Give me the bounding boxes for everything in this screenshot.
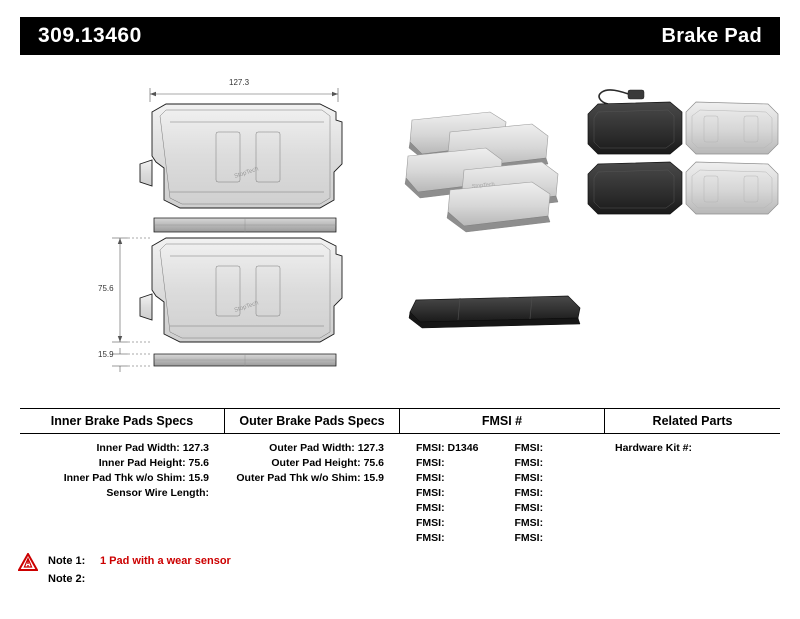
- inner-pad-height: Inner Pad Height: 75.6: [20, 456, 225, 471]
- note-1-label: Note 1:: [48, 552, 100, 570]
- warning-icon: [18, 553, 38, 571]
- dimension-height-label: 75.6: [98, 284, 114, 293]
- dimension-width-label: 127.3: [229, 78, 249, 87]
- outer-pad-width: Outer Pad Width: 127.3: [225, 441, 400, 456]
- inner-pad-width: Inner Pad Width: 127.3: [20, 441, 225, 456]
- fmsi-entry: FMSI:: [507, 501, 606, 516]
- specifications-table: Inner Brake Pads Specs Outer Brake Pads …: [20, 408, 780, 546]
- technical-drawing: StopTech StopTech: [20, 60, 780, 390]
- note-2-label: Note 2:: [48, 570, 100, 588]
- fmsi-entry: FMSI:: [408, 486, 507, 501]
- header-related-parts: Related Parts: [605, 409, 780, 433]
- fmsi-entry: FMSI:: [408, 471, 507, 486]
- outer-pad-height: Outer Pad Height: 75.6: [225, 456, 400, 471]
- fmsi-entry: FMSI:: [408, 531, 507, 546]
- fmsi-entry: FMSI:: [408, 516, 507, 531]
- note-row-2: Note 2:: [48, 570, 548, 588]
- outer-specs-cell: Outer Pad Width: 127.3 Outer Pad Height:…: [225, 434, 400, 546]
- outer-pad-thickness: Outer Pad Thk w/o Shim: 15.9: [225, 471, 400, 486]
- product-drawing-area: StopTech StopTech: [20, 60, 780, 390]
- fmsi-cell: FMSI: D1346 FMSI: FMSI: FMSI: FMSI: FMSI…: [400, 434, 605, 546]
- note-1-value: 1 Pad with a wear sensor: [100, 552, 231, 570]
- fmsi-entry: FMSI:: [408, 501, 507, 516]
- document-header: 309.13460 Brake Pad: [20, 17, 780, 55]
- hardware-kit-number: Hardware Kit #:: [605, 441, 780, 456]
- fmsi-column-left: FMSI: D1346 FMSI: FMSI: FMSI: FMSI: FMSI…: [408, 441, 507, 546]
- spec-header-row: Inner Brake Pads Specs Outer Brake Pads …: [20, 408, 780, 434]
- fmsi-entry: FMSI:: [507, 531, 606, 546]
- inner-pad-thickness: Inner Pad Thk w/o Shim: 15.9: [20, 471, 225, 486]
- notes-section: Note 1: 1 Pad with a wear sensor Note 2:: [48, 552, 548, 588]
- dimension-thickness-label: 15.9: [98, 350, 114, 359]
- note-row-1: Note 1: 1 Pad with a wear sensor: [48, 552, 548, 570]
- header-fmsi: FMSI #: [400, 409, 605, 433]
- spec-body-row: Inner Pad Width: 127.3 Inner Pad Height:…: [20, 434, 780, 546]
- fmsi-entry: FMSI:: [507, 486, 606, 501]
- header-outer-specs: Outer Brake Pads Specs: [225, 409, 400, 433]
- sensor-wire-length: Sensor Wire Length:: [20, 486, 225, 501]
- fmsi-entry: FMSI:: [507, 456, 606, 471]
- fmsi-entry: FMSI: D1346: [408, 441, 507, 456]
- fmsi-column-right: FMSI: FMSI: FMSI: FMSI: FMSI: FMSI: FMSI…: [507, 441, 606, 546]
- header-inner-specs: Inner Brake Pads Specs: [20, 409, 225, 433]
- fmsi-entry: FMSI:: [507, 471, 606, 486]
- product-category: Brake Pad: [661, 25, 762, 48]
- related-parts-cell: Hardware Kit #:: [605, 434, 780, 546]
- fmsi-entry: FMSI:: [507, 441, 606, 456]
- fmsi-entry: FMSI:: [408, 456, 507, 471]
- inner-specs-cell: Inner Pad Width: 127.3 Inner Pad Height:…: [20, 434, 225, 546]
- fmsi-entry: FMSI:: [507, 516, 606, 531]
- part-number: 309.13460: [38, 24, 142, 48]
